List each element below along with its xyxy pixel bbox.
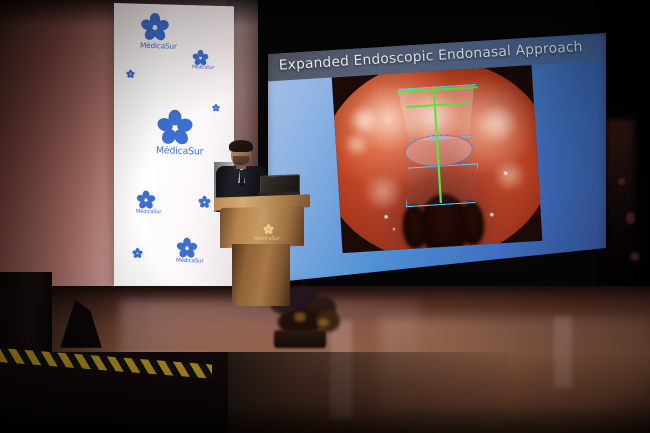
flower-accent — [294, 312, 306, 322]
banner-logo-mark: MédicaSur — [140, 12, 170, 51]
slide-sponsor-logo: MédicaSur — [559, 271, 606, 283]
banner-logo-mark — [126, 69, 135, 78]
backdrop-speck — [630, 252, 640, 261]
medicasur-flower-icon — [136, 190, 156, 211]
banner-logo-mark: MédicaSur — [156, 108, 194, 157]
medicasur-flower-icon — [126, 69, 135, 78]
banner-wordmark: MédicaSur — [176, 258, 198, 265]
medicasur-flower-icon — [254, 222, 282, 236]
lower-trapezoid-annotation — [403, 163, 480, 207]
lectern-wordmark: MédicaSur — [238, 235, 296, 243]
banner-logo-mark: MédicaSur — [192, 49, 209, 70]
planter — [274, 330, 326, 348]
lectern-front-panel: MédicaSur — [220, 206, 304, 248]
slide-sponsor-wordmark: MédicaSur — [572, 276, 606, 283]
medicasur-flower-icon — [156, 108, 194, 147]
backdrop-speck — [626, 212, 635, 224]
slide-footer: mission:brain FOUNDATION — [268, 264, 606, 283]
backdrop-sheen — [604, 120, 634, 295]
banner-wordmark: MédicaSur — [140, 41, 170, 51]
banner-logo-mark — [198, 195, 211, 208]
banner-logo-mark — [132, 248, 143, 259]
backdrop-speck — [618, 178, 625, 185]
banner-logo-mark: MédicaSur — [176, 237, 198, 265]
projection-screen: Expanded Endoscopic Endonasal Approach — [268, 33, 606, 283]
endoscopic-surgical-image — [332, 65, 543, 253]
medicasur-flower-icon — [140, 12, 170, 43]
floor-light-streak — [554, 316, 572, 388]
presentation-slide: Expanded Endoscopic Endonasal Approach — [268, 33, 606, 283]
banner-logo-mark — [212, 104, 220, 112]
medicasur-flower-icon — [559, 274, 570, 283]
slide-footer-rule — [268, 262, 606, 283]
lectern-column — [232, 244, 290, 306]
floor-bottom-shadow — [0, 404, 650, 433]
banner-wordmark: MédicaSur — [192, 65, 209, 70]
stage-left-pillar — [0, 272, 52, 358]
medicasur-flower-icon — [192, 49, 209, 66]
medicasur-flower-icon — [132, 248, 143, 259]
medicasur-flower-icon — [212, 104, 220, 112]
specular-highlight — [504, 171, 507, 174]
lectern: MédicaSur — [214, 196, 310, 308]
banner-wordmark: MédicaSur — [136, 209, 156, 216]
flower-accent — [318, 318, 329, 327]
medicasur-flower-icon — [198, 195, 211, 208]
banner-logo-mark: MédicaSur — [136, 190, 156, 216]
presenter-glasses — [232, 150, 250, 155]
banner-wordmark: MédicaSur — [156, 145, 194, 157]
conference-stage-photo: MédicaSurMédicaSurMédicaSurMédicaSurMédi… — [0, 0, 650, 433]
medicasur-flower-icon — [176, 237, 198, 260]
